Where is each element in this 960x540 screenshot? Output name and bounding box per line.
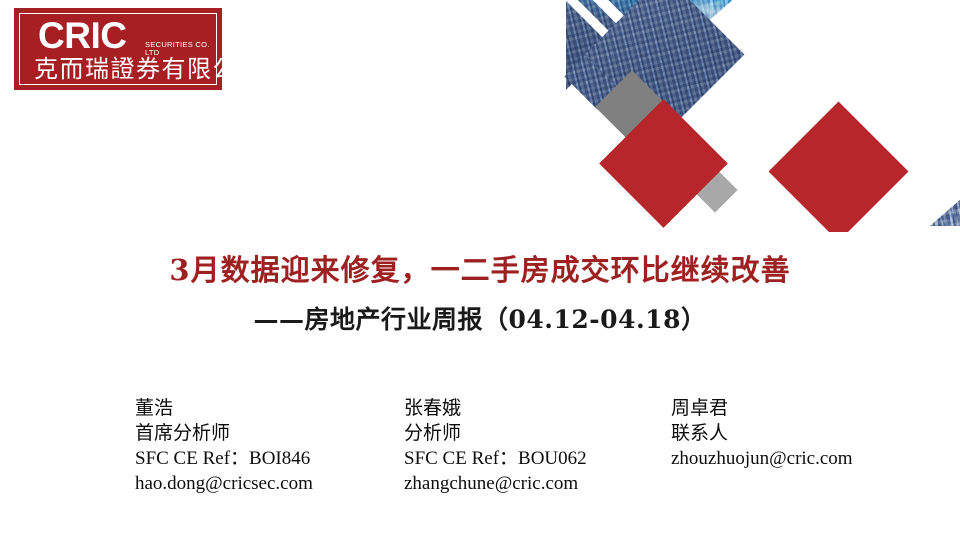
- analyst-role: 分析师: [404, 421, 587, 446]
- slide-root: CRIC SECURITIES CO. LTD 克而瑞證券有限公司 3月数据迎来…: [0, 0, 960, 540]
- analyst-name: 周卓君: [671, 396, 853, 421]
- analyst-contacts: 董浩 首席分析师 SFC CE Ref：BOI846 hao.dong@cric…: [0, 396, 960, 526]
- page-subtitle: ——房地产行业周报（04.12-04.18）: [0, 300, 960, 336]
- analyst-name: 张春娥: [404, 396, 587, 421]
- cric-logo: CRIC SECURITIES CO. LTD 克而瑞證券有限公司: [14, 8, 222, 90]
- analyst-role: 首席分析师: [135, 421, 313, 446]
- analyst-block-1: 董浩 首席分析师 SFC CE Ref：BOI846 hao.dong@cric…: [135, 396, 313, 496]
- analyst-sfc-ref: SFC CE Ref：BOU062: [404, 446, 587, 471]
- logo-subtitle: SECURITIES CO. LTD: [145, 41, 222, 56]
- logo-company-cn: 克而瑞證券有限公司: [34, 56, 264, 85]
- analyst-email[interactable]: zhangchune@cric.com: [404, 471, 587, 496]
- analyst-email[interactable]: hao.dong@cricsec.com: [135, 471, 313, 496]
- analyst-sfc-ref: SFC CE Ref：BOI846: [135, 446, 313, 471]
- analyst-name: 董浩: [135, 396, 313, 421]
- analyst-role: 联系人: [671, 421, 853, 446]
- analyst-block-2: 张春娥 分析师 SFC CE Ref：BOU062 zhangchune@cri…: [404, 396, 587, 496]
- logo-wordmark: CRIC: [38, 17, 126, 54]
- analyst-block-3: 周卓君 联系人 zhouzhuojun@cric.com: [671, 396, 853, 471]
- analyst-email[interactable]: zhouzhuojun@cric.com: [671, 446, 853, 471]
- page-title: 3月数据迎来修复，一二手房成交环比继续改善: [0, 247, 960, 289]
